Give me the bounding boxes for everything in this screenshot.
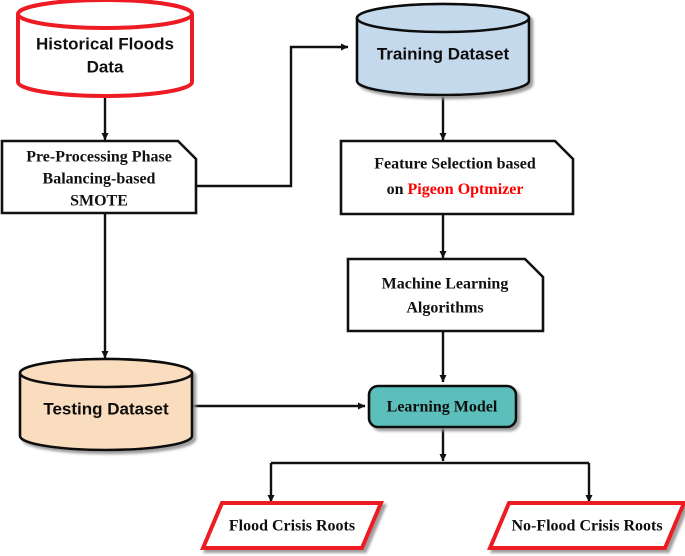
- flood-crisis-roots-node[interactable]: Flood Crisis Roots: [203, 503, 381, 548]
- historical-floods-data-label-line1: Historical Floods: [36, 34, 174, 53]
- flowchart-canvas: Historical Floods Data Pre-Processing Ph…: [0, 0, 685, 556]
- learning-model-label: Learning Model: [387, 399, 498, 416]
- historical-floods-data-label-line2: Data: [87, 57, 124, 76]
- pre-processing-phase-label-line3: SMOTE: [70, 193, 128, 210]
- feature-selection-label-line2: on Pigeon Optmizer: [387, 181, 524, 198]
- no-flood-crisis-roots-node[interactable]: No-Flood Crisis Roots: [490, 503, 684, 548]
- machine-learning-algorithms-label-line1: Machine Learning: [382, 276, 509, 293]
- feature-selection-label-line1: Feature Selection based: [374, 156, 536, 173]
- training-dataset-cylinder-top: [357, 4, 529, 32]
- learning-model-node[interactable]: Learning Model: [369, 386, 516, 427]
- edge-preprocessing-to-training: [196, 47, 348, 186]
- training-dataset-label: Training Dataset: [377, 44, 510, 63]
- flowchart-svg: Historical Floods Data Pre-Processing Ph…: [0, 0, 685, 556]
- machine-learning-algorithms-box: [348, 259, 543, 331]
- historical-floods-data-node[interactable]: Historical Floods Data: [18, 0, 192, 96]
- pre-processing-phase-node[interactable]: Pre-Processing Phase Balancing-based SMO…: [2, 141, 196, 213]
- no-flood-crisis-roots-label: No-Flood Crisis Roots: [511, 518, 662, 535]
- training-dataset-node[interactable]: Training Dataset: [357, 4, 529, 95]
- testing-dataset-cylinder-top: [20, 359, 192, 387]
- historical-floods-data-cylinder-top: [18, 0, 192, 28]
- feature-selection-label-prefix: on: [387, 181, 408, 198]
- machine-learning-algorithms-node[interactable]: Machine Learning Algorithms: [348, 259, 543, 331]
- pre-processing-phase-label-line2: Balancing-based: [43, 171, 156, 188]
- pre-processing-phase-label-line1: Pre-Processing Phase: [26, 149, 172, 166]
- testing-dataset-node[interactable]: Testing Dataset: [20, 359, 192, 450]
- testing-dataset-label: Testing Dataset: [43, 399, 169, 418]
- flood-crisis-roots-label: Flood Crisis Roots: [229, 518, 355, 535]
- machine-learning-algorithms-label-line2: Algorithms: [406, 300, 483, 317]
- feature-selection-node[interactable]: Feature Selection based on Pigeon Optmiz…: [341, 141, 573, 214]
- feature-selection-box: [341, 141, 573, 214]
- feature-selection-label-highlight: Pigeon Optmizer: [407, 181, 523, 198]
